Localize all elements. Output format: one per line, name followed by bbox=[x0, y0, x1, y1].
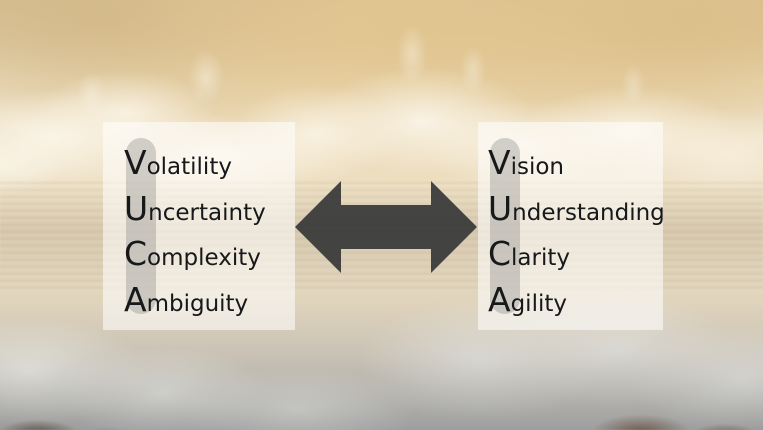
list-item-uncertainty: Uncertainty bbox=[124, 192, 289, 225]
word-volatility: olatility bbox=[147, 154, 232, 180]
initial-letter-v: V bbox=[124, 143, 147, 182]
double-headed-arrow bbox=[295, 181, 477, 273]
double-headed-arrow-icon bbox=[295, 181, 477, 273]
initial-letter-u: U bbox=[124, 189, 148, 228]
word-vision: ision bbox=[511, 154, 564, 180]
vuca-problem-panel: Volatility Uncertainty Complexity Ambigu… bbox=[103, 122, 295, 330]
initial-letter-a: A bbox=[124, 280, 147, 319]
word-agility: gility bbox=[511, 291, 567, 317]
list-item-vision: Vision bbox=[488, 146, 657, 179]
list-item-clarity: Clarity bbox=[488, 237, 657, 270]
word-complexity: omplexity bbox=[147, 245, 261, 271]
initial-letter-a: A bbox=[488, 280, 511, 319]
initial-letter-c: C bbox=[124, 234, 147, 273]
vuca-problem-list: Volatility Uncertainty Complexity Ambigu… bbox=[124, 140, 289, 320]
initial-letter-u: U bbox=[488, 189, 512, 228]
list-item-agility: Agility bbox=[488, 283, 657, 316]
vuca-response-panel: Vision Understanding Clarity Agility bbox=[478, 122, 663, 330]
vuca-slide: Volatility Uncertainty Complexity Ambigu… bbox=[0, 0, 763, 430]
list-item-ambiguity: Ambiguity bbox=[124, 283, 289, 316]
initial-letter-c: C bbox=[488, 234, 511, 273]
list-item-understanding: Understanding bbox=[488, 192, 657, 225]
list-item-volatility: Volatility bbox=[124, 146, 289, 179]
word-ambiguity: mbiguity bbox=[147, 291, 249, 317]
word-understanding: nderstanding bbox=[512, 200, 665, 226]
vuca-response-list: Vision Understanding Clarity Agility bbox=[488, 140, 657, 320]
word-clarity: larity bbox=[511, 245, 570, 271]
list-item-complexity: Complexity bbox=[124, 237, 289, 270]
word-uncertainty: ncertainty bbox=[148, 200, 266, 226]
initial-letter-v: V bbox=[488, 143, 511, 182]
